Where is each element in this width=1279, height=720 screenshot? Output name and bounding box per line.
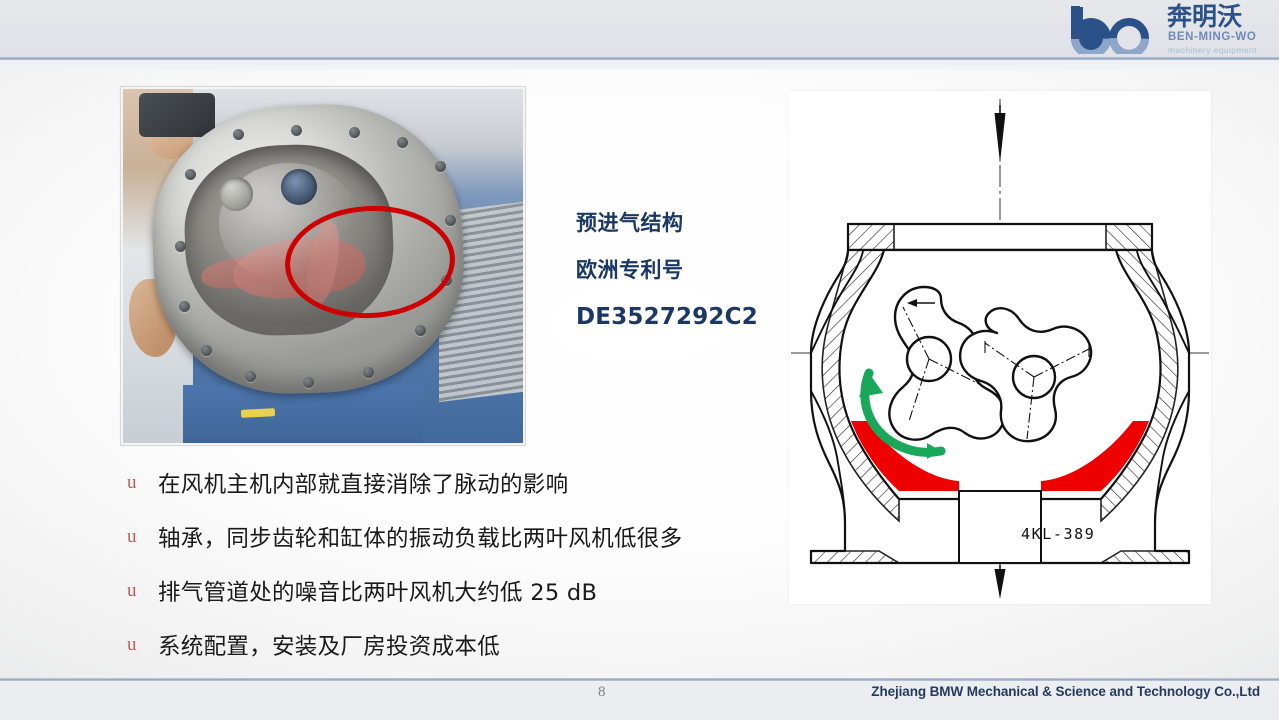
photo-dark-equipment <box>139 93 215 137</box>
photo-bolt-hole <box>415 325 426 336</box>
bo-monogram-icon <box>1071 6 1163 54</box>
list-item: u 在风机主机内部就直接消除了脉动的影响 <box>120 456 820 510</box>
footer-company-name: Zhejiang BMW Mechanical & Science and Te… <box>871 684 1260 699</box>
patent-heading: 预进气结构 欧洲专利号 DE3527292C2 <box>576 200 786 341</box>
photo-shaft-hole-right <box>281 169 317 205</box>
inlet-flow-arrow-icon <box>995 105 1006 163</box>
photo-shaft-hole-left <box>219 177 253 211</box>
photo-bolt-hole <box>397 137 408 148</box>
photo-bolt-hole <box>445 215 456 226</box>
blower-cross-section-drawing-panel: 4KL-389 <box>789 91 1211 604</box>
photo-blue-base <box>183 385 423 443</box>
logo-tagline: machinery equipment <box>1168 45 1257 55</box>
heading-line-2: 欧洲专利号 <box>576 247 786 294</box>
bullet-marker-icon: u <box>120 472 158 494</box>
list-item: u 排气管道处的噪音比两叶风机大约低 25 dB <box>120 564 820 618</box>
photo-bolt-hole <box>435 161 446 172</box>
logo-chinese-name: 奔明沃 <box>1167 3 1242 30</box>
outlet-flow-arrow-icon <box>995 565 1006 599</box>
photo-bolt-hole <box>349 127 360 138</box>
photo-bolt-hole <box>363 367 374 378</box>
bullet-marker-icon: u <box>120 634 158 656</box>
list-item: u 系统配置，安装及厂房投资成本低 <box>120 618 820 672</box>
logo-romanized-name: BEN-MING-WO <box>1168 31 1256 43</box>
bullet-text: 排气管道处的噪音比两叶风机大约低 25 dB <box>158 575 597 607</box>
blower-casing-photo <box>123 89 523 443</box>
heading-patent-number: DE3527292C2 <box>576 294 786 341</box>
blower-cross-section-svg: 4KL-389 <box>789 91 1211 604</box>
photo-bolt-hole <box>245 371 256 382</box>
drawing-part-label: 4KL-389 <box>1021 525 1095 543</box>
feature-bullet-list: u 在风机主机内部就直接消除了脉动的影响 u 轴承，同步齿轮和缸体的振动负载比两… <box>120 456 820 672</box>
page-number: 8 <box>598 684 606 701</box>
company-logo: 奔明沃 BEN-MING-WO machinery equipment <box>1071 2 1267 58</box>
photo-bolt-hole <box>291 125 302 136</box>
top-divider-shadow <box>0 60 1279 70</box>
bullet-marker-icon: u <box>120 526 158 548</box>
photo-bolt-hole <box>201 345 212 356</box>
photo-bolt-hole <box>179 301 190 312</box>
slide-canvas: 奔明沃 BEN-MING-WO machinery equipment <box>0 0 1279 720</box>
photo-bolt-hole <box>185 169 196 180</box>
blower-casing-photo-frame <box>120 86 526 446</box>
heading-line-1: 预进气结构 <box>576 200 786 247</box>
photo-bolt-hole <box>233 129 244 140</box>
bullet-text: 轴承，同步齿轮和缸体的振动负载比两叶风机低很多 <box>158 521 682 553</box>
bullet-text: 系统配置，安装及厂房投资成本低 <box>158 629 500 661</box>
bullet-text: 在风机主机内部就直接消除了脉动的影响 <box>158 467 568 499</box>
photo-bolt-hole <box>175 241 186 252</box>
photo-bolt-hole <box>303 377 314 388</box>
list-item: u 轴承，同步齿轮和缸体的振动负载比两叶风机低很多 <box>120 510 820 564</box>
bullet-marker-icon: u <box>120 580 158 602</box>
